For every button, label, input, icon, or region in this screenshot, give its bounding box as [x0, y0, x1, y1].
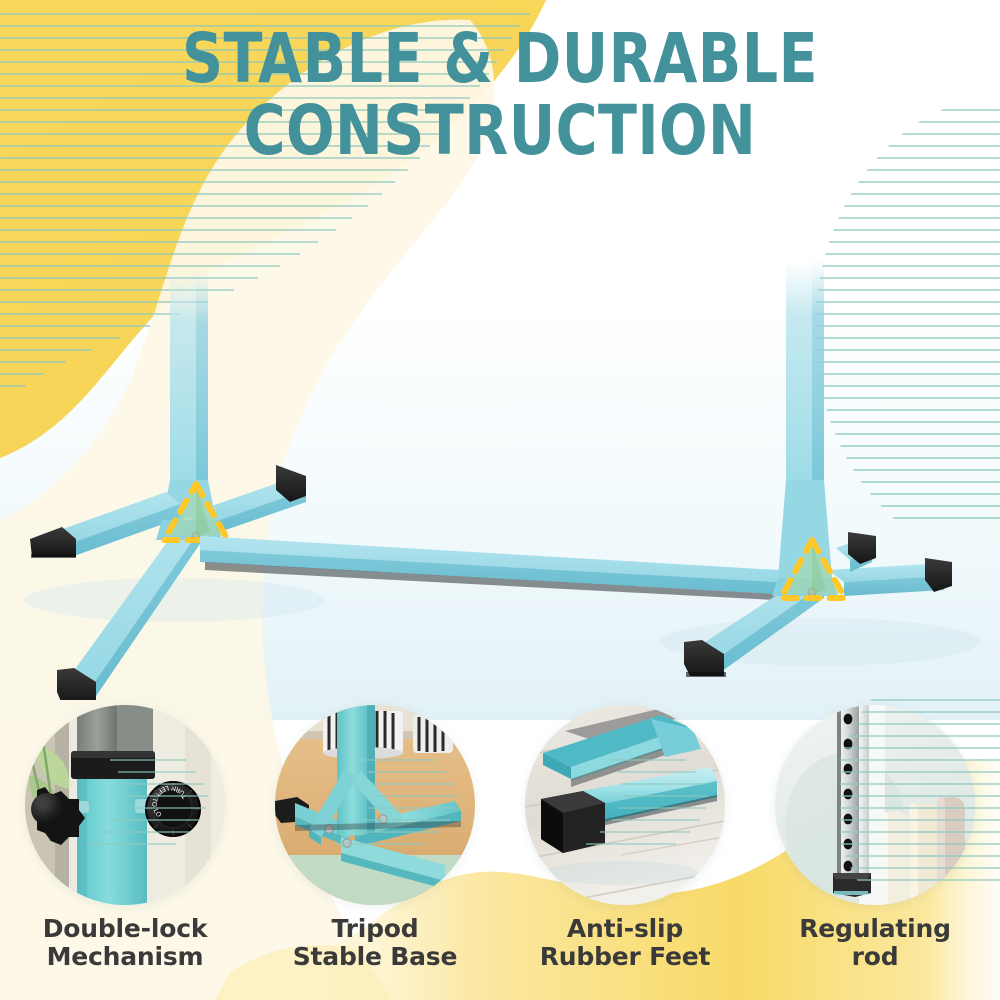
caption-line-2: Rubber Feet	[540, 943, 711, 971]
feature-thumb-regulating-rod[interactable]	[775, 705, 975, 905]
headline: STABLE & DURABLE CONSTRUCTION	[0, 26, 1000, 164]
rubber-foot-icon	[525, 705, 725, 905]
hero-product-image	[0, 180, 1000, 700]
caption-line-1: Regulating	[799, 914, 951, 943]
regulating-rod	[833, 705, 871, 897]
rubber-cap	[541, 791, 605, 853]
feature-thumb-double-lock[interactable]: TURN LEFT TO LOOSEN	[25, 705, 225, 905]
caption-line-2: Stable Base	[293, 943, 458, 971]
feature-caption-tripod-base: Tripod Stable Base	[293, 915, 458, 971]
feature-thumb-tripod-base[interactable]	[275, 705, 475, 905]
lock-knob-icon: TURN LEFT TO LOOSEN	[25, 705, 225, 905]
caption-line-1: Tripod	[332, 914, 419, 943]
caption-line-2: Mechanism	[43, 943, 208, 971]
feature-caption-regulating-rod: Regulating rod	[799, 915, 951, 971]
tripod-icon	[275, 705, 475, 905]
caption-line-1: Anti-slip	[567, 914, 683, 943]
left-leg-assembly	[25, 270, 325, 700]
feature-double-lock[interactable]: TURN LEFT TO LOOSEN	[0, 700, 250, 1000]
feature-caption-rubber-feet: Anti-slip Rubber Feet	[540, 915, 711, 971]
feature-caption-double-lock: Double-lock Mechanism	[43, 915, 208, 971]
feature-row: TURN LEFT TO LOOSEN	[0, 700, 1000, 1000]
feature-regulating-rod[interactable]: Regulating rod	[750, 700, 1000, 1000]
feature-tripod-base[interactable]: Tripod Stable Base	[250, 700, 500, 1000]
infographic-canvas: STABLE & DURABLE CONSTRUCTION	[0, 0, 1000, 1000]
right-leg-assembly	[660, 260, 980, 677]
cushion-rolls	[879, 797, 965, 905]
headline-line-2: CONSTRUCTION	[40, 98, 960, 164]
regulating-rod-icon	[775, 705, 975, 905]
feature-rubber-feet[interactable]: Anti-slip Rubber Feet	[500, 700, 750, 1000]
caption-line-2: rod	[799, 943, 951, 971]
feature-thumb-rubber-feet[interactable]	[525, 705, 725, 905]
caption-line-1: Double-lock	[43, 914, 208, 943]
headline-line-1: STABLE & DURABLE	[40, 26, 960, 92]
